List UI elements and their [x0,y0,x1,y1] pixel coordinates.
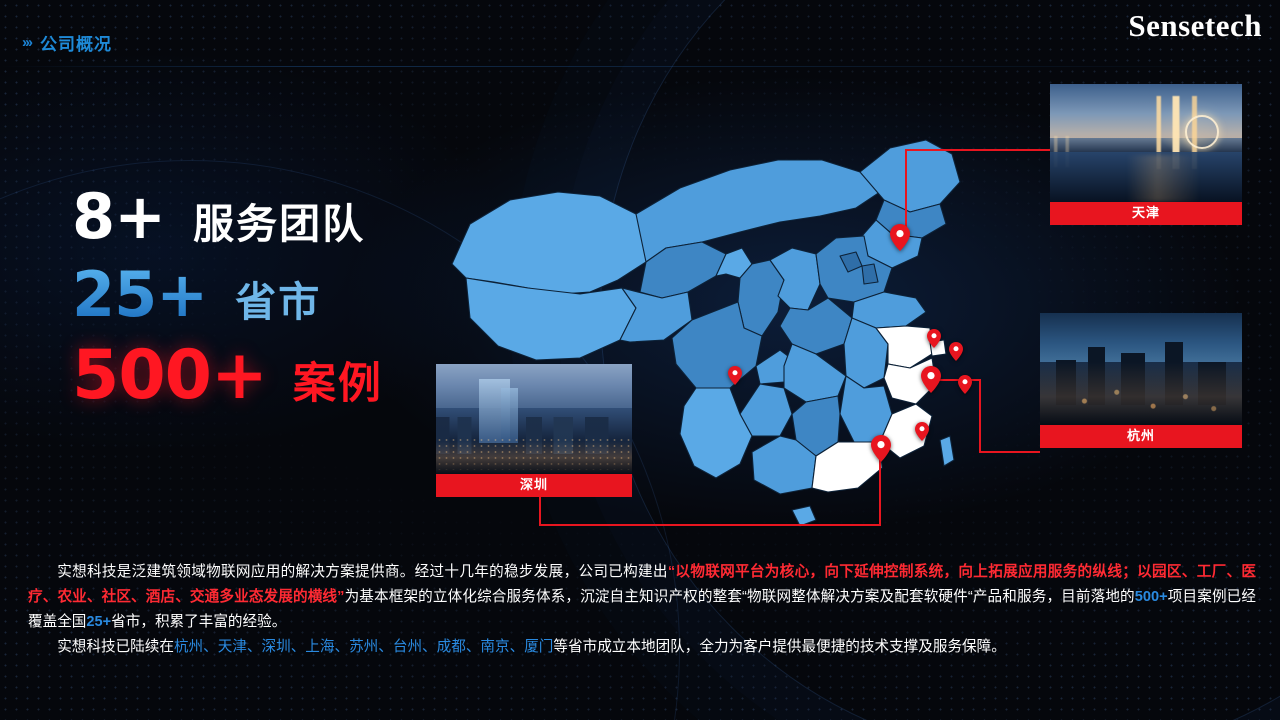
stats-block: 8+ 服务团队 25+ 省市 500+ 案例 [72,186,383,410]
card-caption-tianjin: 天津 [1050,202,1242,225]
p2-seg1: 实想科技已陆续在 [57,639,174,655]
card-hangzhou[interactable]: 杭州 [1040,313,1242,448]
card-shenzhen[interactable]: 深圳 [436,364,632,497]
hangzhou-photo [1040,313,1242,425]
stat-row-cases: 500+ 案例 [72,342,383,410]
stat-number-cases: 500+ [72,342,267,410]
section-tag: ››› 公司概况 [22,30,112,55]
card-caption-shenzhen: 深圳 [436,474,632,497]
map-pin-shenzhen[interactable] [871,435,891,462]
card-tianjin[interactable]: 天津 [1050,84,1242,225]
page-title: 公司概况 [40,30,112,55]
shenzhen-photo [436,364,632,474]
stat-label-provinces: 省市 [235,282,321,323]
stat-label-teams: 服务团队 [193,204,365,245]
p1-seg1: 实想科技是泛建筑领域物联网应用的解决方案提供商。经过十几年的稳步发展，公司已构建… [57,564,668,580]
map-pin-taizhou[interactable] [958,375,972,394]
map-pin-hangzhou[interactable] [921,366,941,393]
body-text: 实想科技是泛建筑领域物联网应用的解决方案提供商。经过十几年的稳步发展，公司已构建… [28,560,1256,660]
p2-seg2: 等省市成立本地团队，全力为客户提供最便捷的技术支撑及服务保障。 [553,639,1005,655]
brand-logo: Sensetech [1128,8,1262,44]
stat-number-teams: 8+ [72,186,165,248]
p2-highlight-cities: 杭州、天津、深圳、上海、苏州、台州、成都、南京、厦门 [174,639,553,655]
card-caption-hangzhou: 杭州 [1040,425,1242,448]
map-pin-chengdu[interactable] [728,366,742,385]
header-divider [0,66,1280,67]
stat-label-cases: 案例 [293,363,383,406]
stat-row-provinces: 25+ 省市 [72,264,383,326]
chevrons-icon: ››› [22,34,31,51]
stat-number-provinces: 25+ [72,264,207,326]
p1-seg2: 为基本框架的立体化综合服务体系，沉淀自主知识产权的整套“物联网整体解决方案及配套… [344,589,1134,605]
map-pin-shanghai[interactable] [949,342,963,361]
map-pin-nanjing[interactable] [915,422,929,441]
p1-highlight-500: 500+ [1135,589,1168,605]
page-header: ››› 公司概况 Sensetech [0,0,1280,68]
map-pin-suzhou[interactable] [927,329,941,348]
map-pin-beijing-tianjin[interactable] [890,224,910,251]
body-paragraph-2: 实想科技已陆续在杭州、天津、深圳、上海、苏州、台州、成都、南京、厦门等省市成立本… [28,635,1256,660]
tianjin-photo [1050,84,1242,202]
body-paragraph-1: 实想科技是泛建筑领域物联网应用的解决方案提供商。经过十几年的稳步发展，公司已构建… [28,560,1256,635]
stat-row-teams: 8+ 服务团队 [72,186,383,248]
p1-seg4: 省市，积累了丰富的经验。 [111,614,286,630]
p1-highlight-25: 25+ [86,614,111,630]
